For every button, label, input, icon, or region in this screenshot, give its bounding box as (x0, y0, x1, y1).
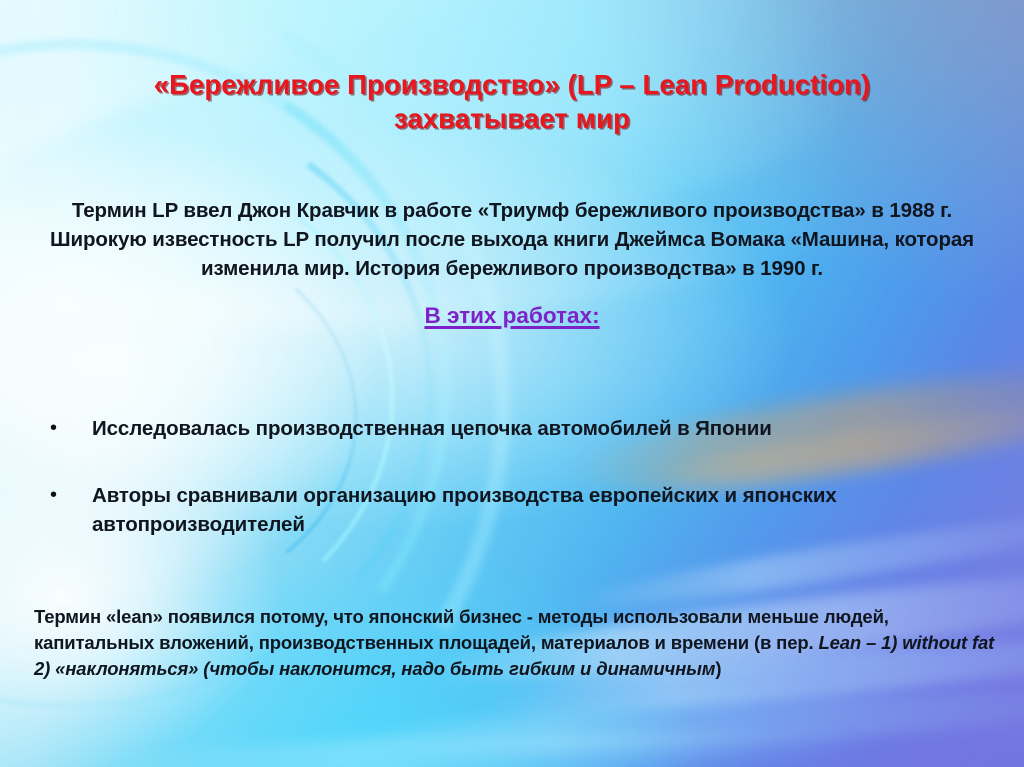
bullet-point-icon: • (46, 414, 92, 443)
bullet-text-1: Исследовалась производственная цепочка а… (92, 414, 964, 443)
slide-canvas: «Бережливое Производство» (LP – Lean Pro… (0, 0, 1024, 767)
bullet-text-2: Авторы сравнивали организацию производст… (92, 481, 964, 539)
footnote-part-2: ) (715, 658, 721, 679)
bullet-point-icon: • (46, 481, 92, 510)
bullet-list: • Исследовалась производственная цепочка… (46, 414, 964, 577)
footnote-paragraph: Термин «lean» появился потому, что японс… (34, 604, 1002, 682)
section-heading-text: В этих работах: (424, 302, 599, 330)
footnote-part-1: Термин «lean» появился потому, что японс… (34, 606, 889, 653)
slide-title-line-2: захватывает мир (40, 102, 984, 136)
slide-title-line-1: «Бережливое Производство» (LP – Lean Pro… (40, 68, 984, 102)
list-item: • Авторы сравнивали организацию производ… (46, 481, 964, 539)
list-item: • Исследовалась производственная цепочка… (46, 414, 964, 443)
section-heading: В этих работах: (0, 302, 1024, 330)
slide-title: «Бережливое Производство» (LP – Lean Pro… (0, 68, 1024, 136)
intro-paragraph: Термин LP ввел Джон Кравчик в работе «Тр… (30, 196, 994, 283)
slide-content: «Бережливое Производство» (LP – Lean Pro… (0, 0, 1024, 767)
